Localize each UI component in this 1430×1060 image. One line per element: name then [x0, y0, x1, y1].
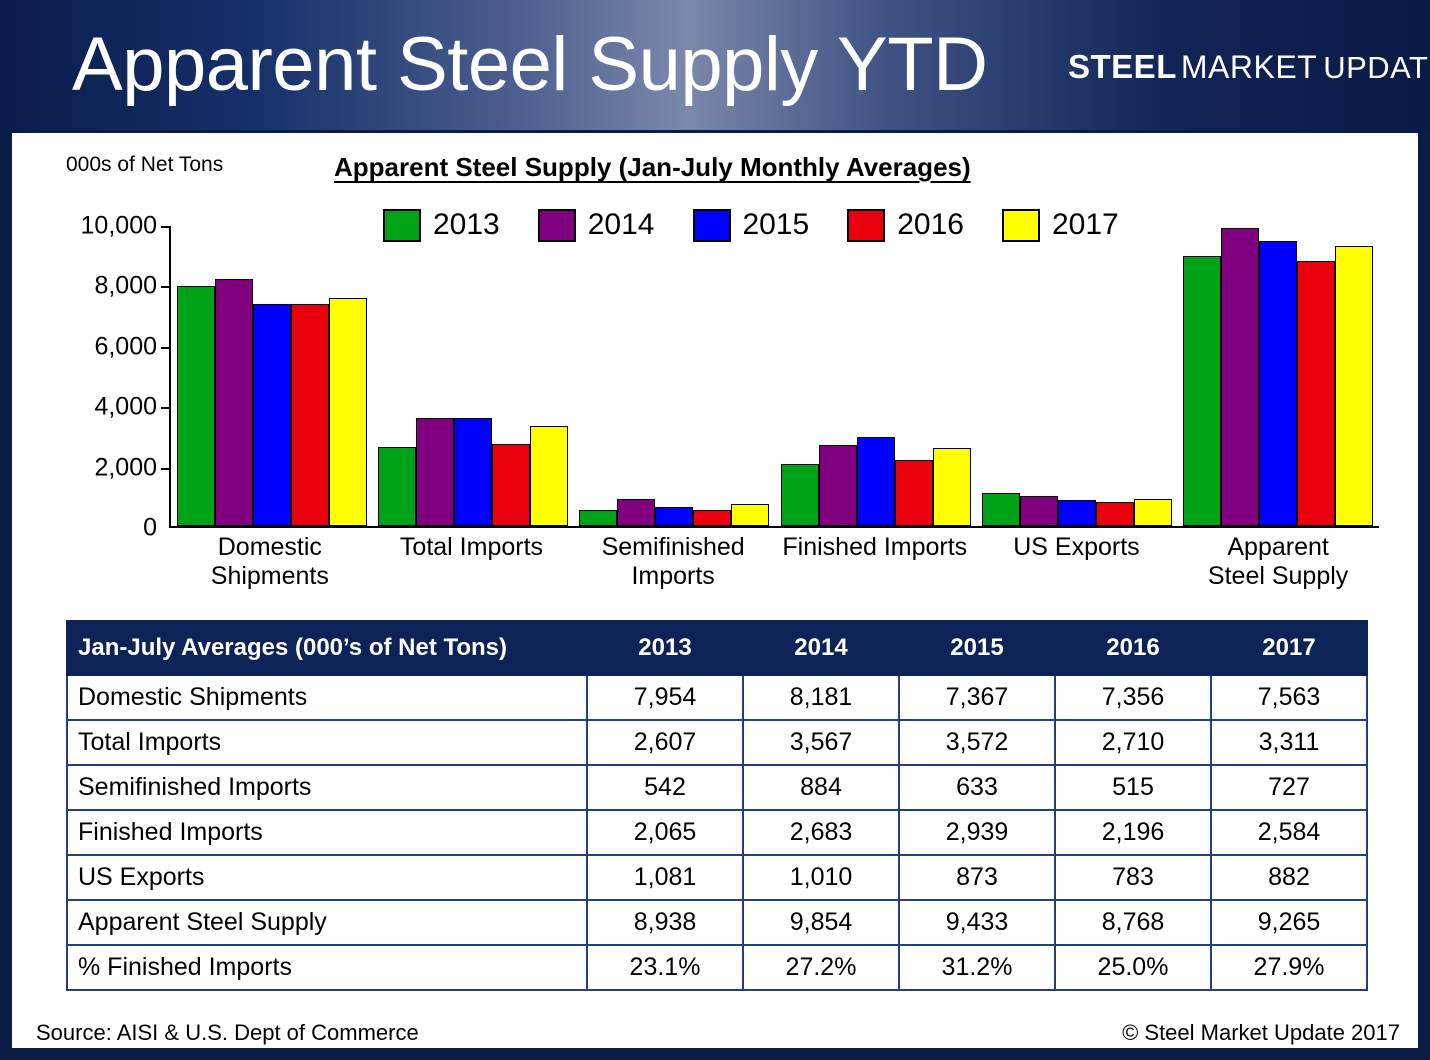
table-cell: 7,367	[899, 675, 1055, 720]
logo-wordmark: STEELMARKETUPDATE	[1068, 48, 1430, 93]
bar-2015-3	[857, 437, 895, 526]
bar-2015-1	[454, 418, 492, 526]
data-table: Jan-July Averages (000’s of Net Tons)201…	[66, 620, 1368, 991]
bar-2017-4	[1134, 499, 1172, 526]
table-cell: 2,710	[1055, 720, 1211, 765]
bar-2015-4	[1058, 500, 1096, 526]
table-row: Total Imports2,6073,5673,5722,7103,311	[67, 720, 1367, 765]
bar-2015-5	[1259, 241, 1297, 526]
table-cell: 783	[1055, 855, 1211, 900]
slide: Apparent Steel Supply YTD STEELMARKETUPD…	[0, 0, 1430, 1060]
table-header-2017: 2017	[1211, 621, 1367, 675]
x-axis-label-line: Domestic	[169, 533, 371, 562]
bar-2014-2	[617, 499, 655, 526]
bar-2016-3	[895, 460, 933, 526]
table-row: Apparent Steel Supply8,9389,8549,4338,76…	[67, 900, 1367, 945]
logo-market-text: MARKET	[1181, 49, 1317, 85]
table-header-row: Jan-July Averages (000’s of Net Tons)201…	[67, 621, 1367, 675]
table-row: US Exports1,0811,010873783882	[67, 855, 1367, 900]
bar-2014-3	[819, 445, 857, 526]
logo-steel-text: STEEL	[1068, 48, 1177, 85]
bar-2016-2	[693, 510, 731, 526]
bar-groups	[171, 226, 1379, 526]
steel-market-update-logo: STEELMARKETUPDATE	[1040, 16, 1412, 116]
y-axis-tick-10000: 10,000	[61, 212, 171, 241]
table-row-label: Domestic Shipments	[67, 675, 587, 720]
y-axis-tick-2000: 2,000	[61, 453, 171, 482]
table-cell: 8,768	[1055, 900, 1211, 945]
units-note: 000s of Net Tons	[66, 153, 223, 177]
table-header-2015: 2015	[899, 621, 1055, 675]
y-axis-tick-mark-10000	[161, 226, 171, 228]
table-cell: 542	[587, 765, 743, 810]
bar-2013-2	[579, 510, 617, 526]
x-axis-label-0: DomesticShipments	[169, 533, 371, 591]
table-cell: 25.0%	[1055, 945, 1211, 990]
table-cell: 9,265	[1211, 900, 1367, 945]
table-cell: 2,607	[587, 720, 743, 765]
y-axis-tick-6000: 6,000	[61, 332, 171, 361]
content-panel: 000s of Net Tons Apparent Steel Supply (…	[12, 133, 1418, 1048]
table-row-label: Total Imports	[67, 720, 587, 765]
bar-2013-0	[177, 286, 215, 526]
table-cell: 2,584	[1211, 810, 1367, 855]
x-axis-label-line: Finished Imports	[774, 533, 976, 562]
table-cell: 1,081	[587, 855, 743, 900]
table-cell: 23.1%	[587, 945, 743, 990]
table-cell: 633	[899, 765, 1055, 810]
x-axis-label-line: Apparent	[1177, 533, 1379, 562]
plot-area: 02,0004,0006,0008,00010,000	[169, 226, 1379, 528]
bar-2016-0	[291, 304, 329, 526]
x-axis-label-line: Steel Supply	[1177, 562, 1379, 591]
y-axis-tick-mark-8000	[161, 286, 171, 288]
bar-2017-5	[1335, 246, 1373, 526]
table-row-label: Apparent Steel Supply	[67, 900, 587, 945]
bar-2015-2	[655, 507, 693, 526]
table-cell: 2,683	[743, 810, 899, 855]
bar-2014-5	[1221, 228, 1259, 526]
bar-2017-0	[329, 298, 367, 526]
x-axis-label-1: Total Imports	[371, 533, 573, 591]
y-axis-tick-0: 0	[61, 514, 171, 543]
table-cell: 727	[1211, 765, 1367, 810]
x-axis-label-5: ApparentSteel Supply	[1177, 533, 1379, 591]
table-header-2013: 2013	[587, 621, 743, 675]
table-cell: 7,954	[587, 675, 743, 720]
table-row-label: US Exports	[67, 855, 587, 900]
bar-group-0	[171, 226, 372, 526]
table-row: % Finished Imports23.1%27.2%31.2%25.0%27…	[67, 945, 1367, 990]
bar-2017-1	[530, 426, 568, 526]
table-row-label: Semifinished Imports	[67, 765, 587, 810]
bar-group-2	[574, 226, 775, 526]
x-axis-label-2: SemifinishedImports	[572, 533, 774, 591]
table-cell: 27.9%	[1211, 945, 1367, 990]
bar-2017-2	[731, 504, 769, 526]
x-axis-label-line: Shipments	[169, 562, 371, 591]
bar-2014-1	[416, 418, 454, 526]
table-row: Semifinished Imports542884633515727	[67, 765, 1367, 810]
table-cell: 3,567	[743, 720, 899, 765]
y-axis-tick-mark-6000	[161, 347, 171, 349]
table-cell: 3,311	[1211, 720, 1367, 765]
table-header-2016: 2016	[1055, 621, 1211, 675]
bar-2013-1	[378, 447, 416, 526]
x-axis-label-line: Total Imports	[371, 533, 573, 562]
bar-group-3	[775, 226, 976, 526]
table-cell: 2,196	[1055, 810, 1211, 855]
y-axis-tick-mark-2000	[161, 468, 171, 470]
table-header-label: Jan-July Averages (000’s of Net Tons)	[67, 621, 587, 675]
table-header-2014: 2014	[743, 621, 899, 675]
table-cell: 27.2%	[743, 945, 899, 990]
y-axis-tick-4000: 4,000	[61, 393, 171, 422]
x-axis-labels: DomesticShipmentsTotal ImportsSemifinish…	[169, 533, 1379, 591]
table-cell: 873	[899, 855, 1055, 900]
table-cell: 7,356	[1055, 675, 1211, 720]
bar-group-1	[372, 226, 573, 526]
bar-2016-5	[1297, 261, 1335, 526]
bar-2013-4	[982, 493, 1020, 526]
bar-2016-4	[1096, 502, 1134, 526]
bar-group-4	[976, 226, 1177, 526]
table-cell: 3,572	[899, 720, 1055, 765]
bar-2013-5	[1183, 256, 1221, 526]
bar-2017-3	[933, 448, 971, 526]
footer-copyright: © Steel Market Update 2017	[1122, 1020, 1400, 1046]
table-cell: 2,939	[899, 810, 1055, 855]
y-axis-tick-8000: 8,000	[61, 272, 171, 301]
table-row-label: % Finished Imports	[67, 945, 587, 990]
table-body: Domestic Shipments7,9548,1817,3677,3567,…	[67, 675, 1367, 990]
table-cell: 9,854	[743, 900, 899, 945]
table-cell: 8,181	[743, 675, 899, 720]
table-cell: 2,065	[587, 810, 743, 855]
table-cell: 515	[1055, 765, 1211, 810]
x-axis-label-3: Finished Imports	[774, 533, 976, 591]
x-axis-label-line: Semifinished	[572, 533, 774, 562]
x-axis-label-line: Imports	[572, 562, 774, 591]
bar-2015-0	[253, 304, 291, 526]
bar-group-5	[1178, 226, 1379, 526]
bar-2014-0	[215, 279, 253, 526]
bar-2013-3	[781, 464, 819, 526]
table-row: Domestic Shipments7,9548,1817,3677,3567,…	[67, 675, 1367, 720]
header-banner: Apparent Steel Supply YTD STEELMARKETUPD…	[0, 0, 1430, 130]
bar-2016-1	[492, 444, 530, 526]
chart-title: Apparent Steel Supply (Jan-July Monthly …	[334, 152, 971, 183]
logo-update-text: UPDATE	[1323, 50, 1430, 85]
page-title: Apparent Steel Supply YTD	[72, 20, 988, 110]
bar-2014-4	[1020, 496, 1058, 527]
table-cell: 1,010	[743, 855, 899, 900]
table-cell: 884	[743, 765, 899, 810]
footer-source: Source: AISI & U.S. Dept of Commerce	[36, 1020, 419, 1046]
table-cell: 31.2%	[899, 945, 1055, 990]
table-row-label: Finished Imports	[67, 810, 587, 855]
x-axis-label-4: US Exports	[976, 533, 1178, 591]
x-axis-label-line: US Exports	[976, 533, 1178, 562]
table-cell: 9,433	[899, 900, 1055, 945]
table-cell: 7,563	[1211, 675, 1367, 720]
bar-chart: 000s of Net Tons Apparent Steel Supply (…	[12, 133, 1418, 603]
table-row: Finished Imports2,0652,6832,9392,1962,58…	[67, 810, 1367, 855]
table-cell: 8,938	[587, 900, 743, 945]
table-cell: 882	[1211, 855, 1367, 900]
y-axis-tick-mark-4000	[161, 407, 171, 409]
